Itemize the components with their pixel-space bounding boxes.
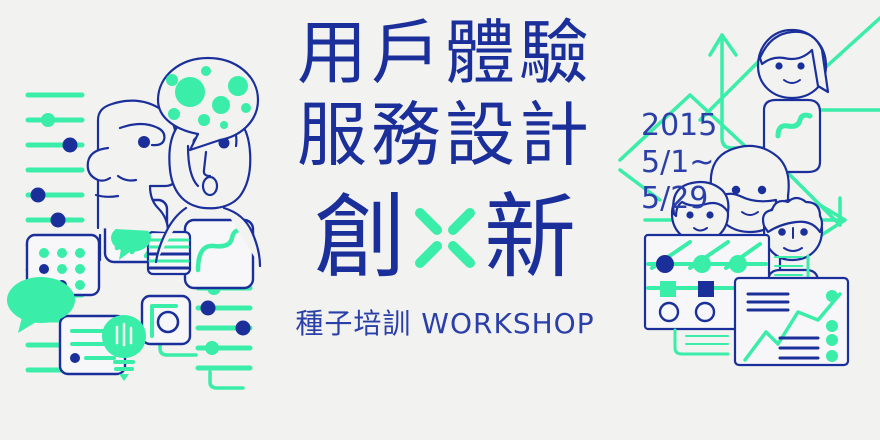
event-year: 2015 [641,108,717,145]
headline-line-2: 服務設計 [297,100,593,184]
event-end-date: 5/29 [641,181,717,218]
x-cross-icon [412,205,478,271]
event-start-date: 5/1~ [641,145,717,182]
headline-subtitle: 種子培訓 WORKSHOP [295,302,594,342]
headline-line-3: 創 新 [290,186,600,290]
headline-char-chuang: 創 [314,192,406,284]
dashboard-connector [675,330,728,354]
event-date-block: 2015 5/1~ 5/29 [641,108,717,218]
dashboard-chart-card [735,278,848,365]
headline-char-xin: 新 [484,192,576,284]
banner-root: 用戶體驗 服務設計 創 新 種子培訓 WORKSHOP 2015 5/1~ 5/… [0,0,880,440]
headline-block: 用戶體驗 服務設計 創 新 種子培訓 WORKSHOP [290,18,600,378]
headline-line-1: 用戶體驗 [297,18,593,98]
